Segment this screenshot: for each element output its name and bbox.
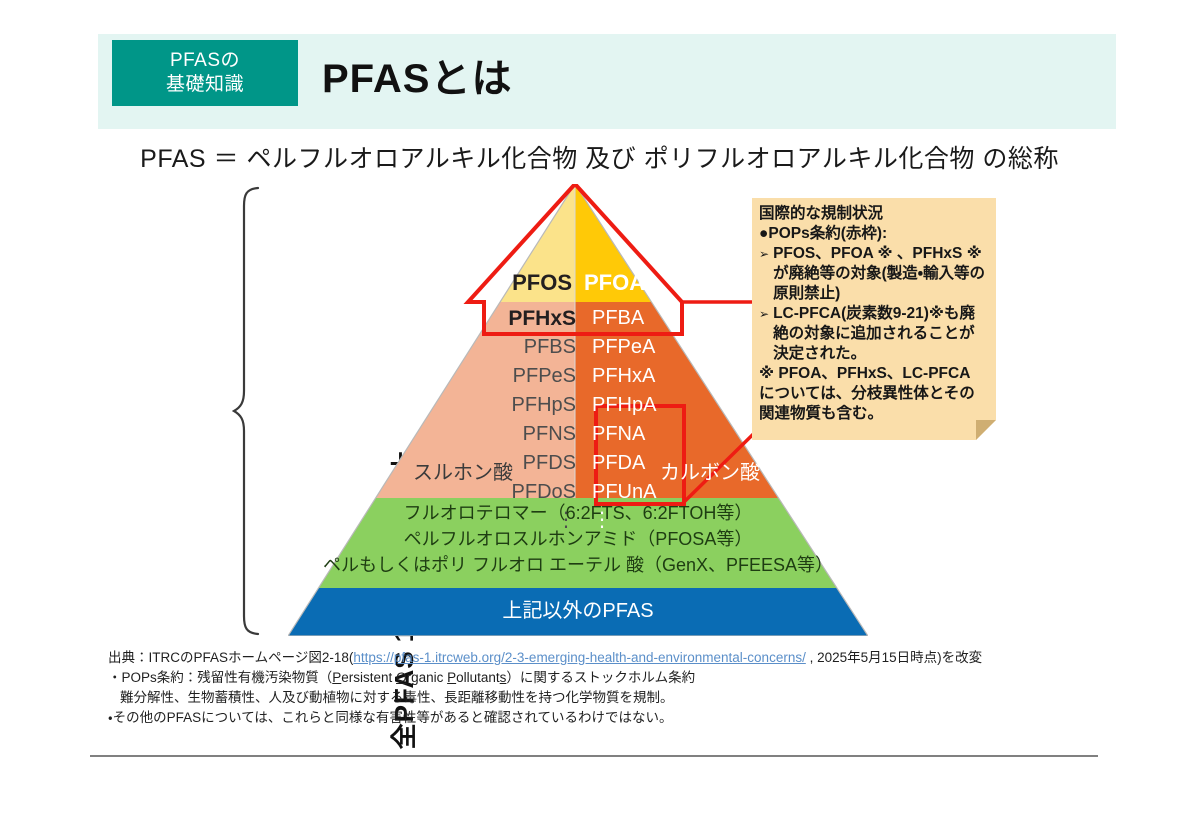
page-title: PFASとは [322, 46, 512, 104]
footnote-pops: ・POPs条約：残留性有機汚染物質（Persistent Organic Pol… [108, 668, 1168, 688]
note-bullet: ➢ LC-PFCA(炭素数9-21)※も廃絶の対象に追加されることが決定された。 [759, 304, 989, 364]
footnote-pops-detail: 難分解性、生物蓄積性、人及び動植物に対する毒性、長距離移動性を持つ化学物質を規制… [108, 688, 1168, 708]
footnote-source-prefix: 出典：ITRCのPFASホームページ図2-18( [108, 650, 353, 665]
footnotes: 出典：ITRCのPFASホームページ図2-18(https://pfas-1.i… [108, 648, 1168, 728]
note-treaty-heading: ●POPs条約(赤枠): [759, 224, 989, 244]
note-content: 国際的な規制状況 ●POPs条約(赤枠): ➢ PFOS、PFOA ※ 、PFH… [752, 198, 996, 424]
note-bullet-text: PFOS、PFOA ※ 、PFHxS ※ が廃絶等の対象(製造・輸入等の原則禁止… [773, 244, 989, 304]
regulation-note: 国際的な規制状況 ●POPs条約(赤枠): ➢ PFOS、PFOA ※ 、PFH… [752, 198, 996, 440]
header-badge: PFASの 基礎知識 [112, 40, 298, 106]
definition-equation: PFAS ＝ ペルフルオロアルキル化合物 及び ポリフルオロアルキル化合物 の総… [0, 139, 1199, 175]
header-badge-line1: PFASの [170, 49, 240, 73]
arrow-bullet-icon: ➢ [759, 304, 769, 364]
footnote-source: 出典：ITRCのPFASホームページ図2-18(https://pfas-1.i… [108, 648, 1168, 668]
scale-brace [232, 186, 262, 636]
bottom-divider [90, 755, 1098, 757]
note-footnote: ※ PFOA、PFHxS、LC-PFCA については、分枝異性体とその関連物質も… [759, 364, 989, 424]
header-badge-line2: 基礎知識 [166, 73, 244, 97]
source-url-link[interactable]: https://pfas-1.itrcweb.org/2-3-emerging-… [353, 650, 805, 665]
footnote-underline: O [396, 670, 407, 685]
note-title: 国際的な規制状況 [759, 204, 989, 224]
footnote-text: ）に関するストックホルム条約 [506, 670, 695, 685]
arrow-bullet-icon: ➢ [759, 244, 769, 304]
footnote-text: rganic [407, 670, 448, 685]
slide-root: PFASの 基礎知識 PFASとは PFAS ＝ ペルフルオロアルキル化合物 及… [0, 0, 1199, 800]
footnote-underline: P [332, 670, 341, 685]
note-bullet-text: LC-PFCA(炭素数9-21)※も廃絶の対象に追加されることが決定された。 [773, 304, 989, 364]
footnote-source-suffix: , 2025年5月15日時点)を改変 [806, 650, 982, 665]
footnote-text: ersistent [341, 670, 396, 685]
footnote-underline: P [447, 670, 456, 685]
footnote-text: ollutant [456, 670, 500, 685]
footnote-text: ・POPs条約：残留性有機汚染物質（ [108, 670, 332, 685]
note-bullet: ➢ PFOS、PFOA ※ 、PFHxS ※ が廃絶等の対象(製造・輸入等の原則… [759, 244, 989, 304]
footnote-other-pfas: ・その他のPFASについては、これらと同様な有害性等があると確認されているわけで… [108, 708, 1168, 728]
